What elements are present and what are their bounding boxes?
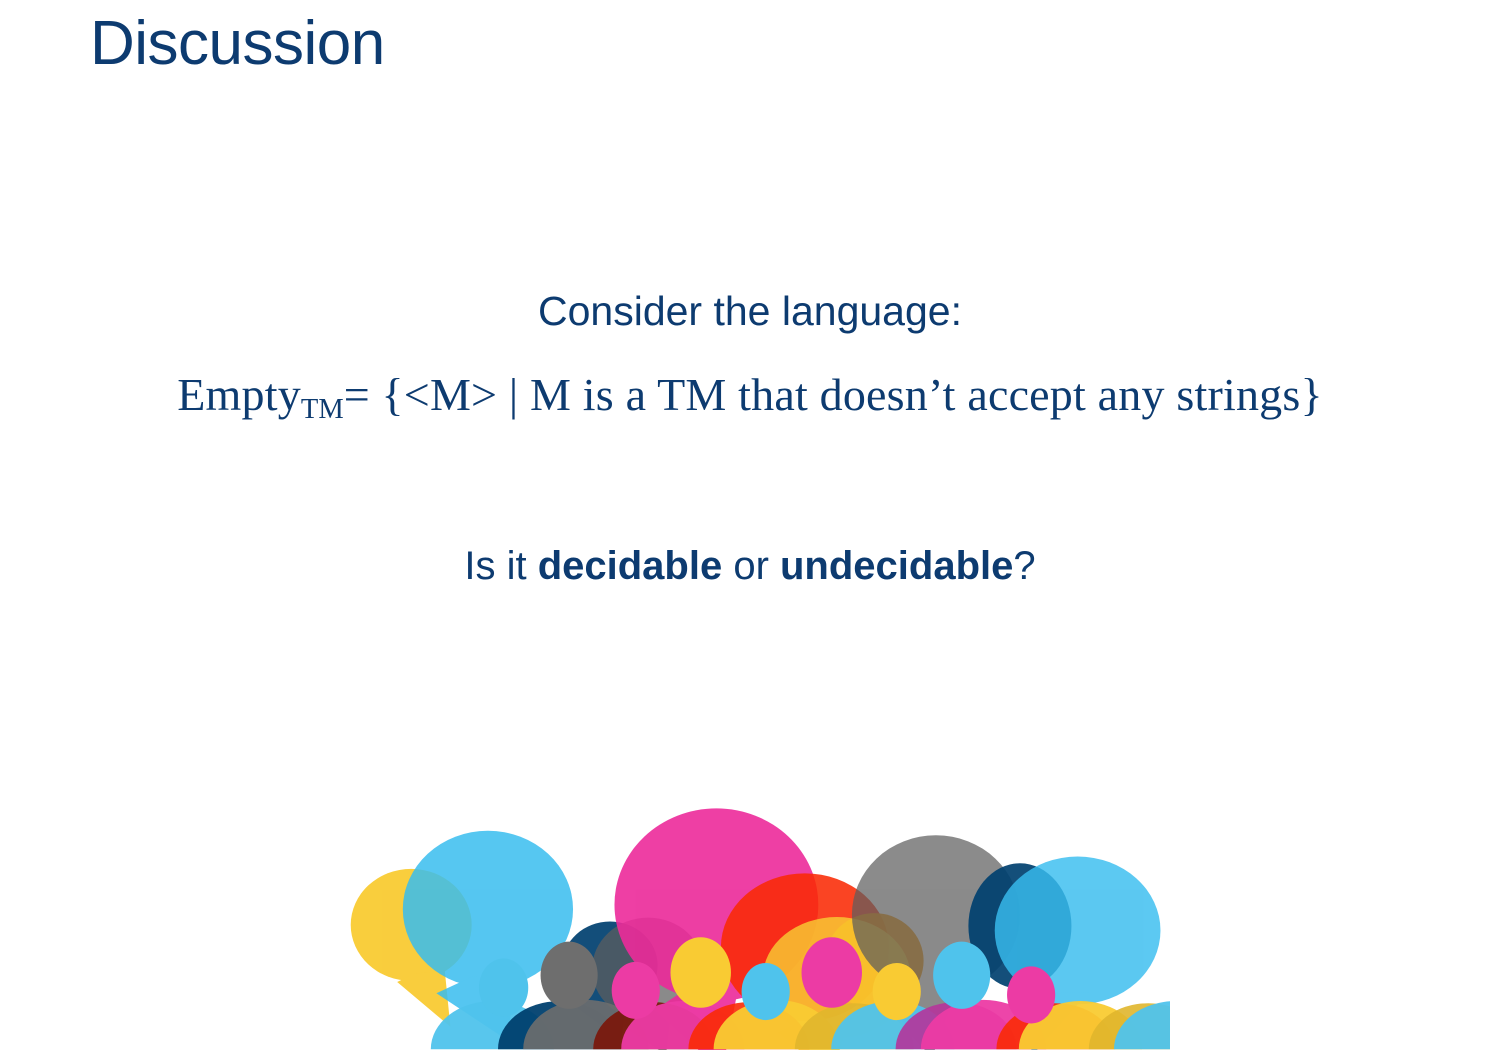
slide-canvas: Discussion Consider the language: EmptyT… [0, 0, 1500, 1050]
language-subscript: TM [301, 394, 344, 425]
question-suffix: ? [1013, 544, 1035, 588]
page-title: Discussion [90, 8, 385, 79]
language-body: = {<M> | M is a TM that doesn’t accept a… [344, 369, 1323, 420]
language-name: Empty [177, 369, 301, 420]
crowd-head [873, 963, 921, 1020]
crowd-head [670, 937, 730, 1008]
prompt-text: Consider the language: [0, 288, 1500, 335]
crowd-head [933, 942, 990, 1009]
speech-bubbles-illustration [330, 690, 1170, 1050]
language-definition: EmptyTM= {<M> | M is a TM that doesn’t a… [0, 368, 1500, 426]
crowd-head [1007, 966, 1055, 1023]
illustration-svg [330, 690, 1170, 1050]
crowd-head [802, 937, 862, 1008]
option-decidable: decidable [538, 544, 723, 588]
crowd-head [612, 962, 660, 1019]
option-undecidable: undecidable [780, 544, 1013, 588]
crowd-head [742, 963, 790, 1020]
crowd-shoulders-row [431, 1000, 1170, 1049]
crowd-head [541, 942, 598, 1009]
question-joiner: or [722, 544, 780, 588]
question-text: Is it decidable or undecidable? [0, 544, 1500, 589]
crowd-head [479, 958, 528, 1016]
question-prefix: Is it [464, 544, 537, 588]
